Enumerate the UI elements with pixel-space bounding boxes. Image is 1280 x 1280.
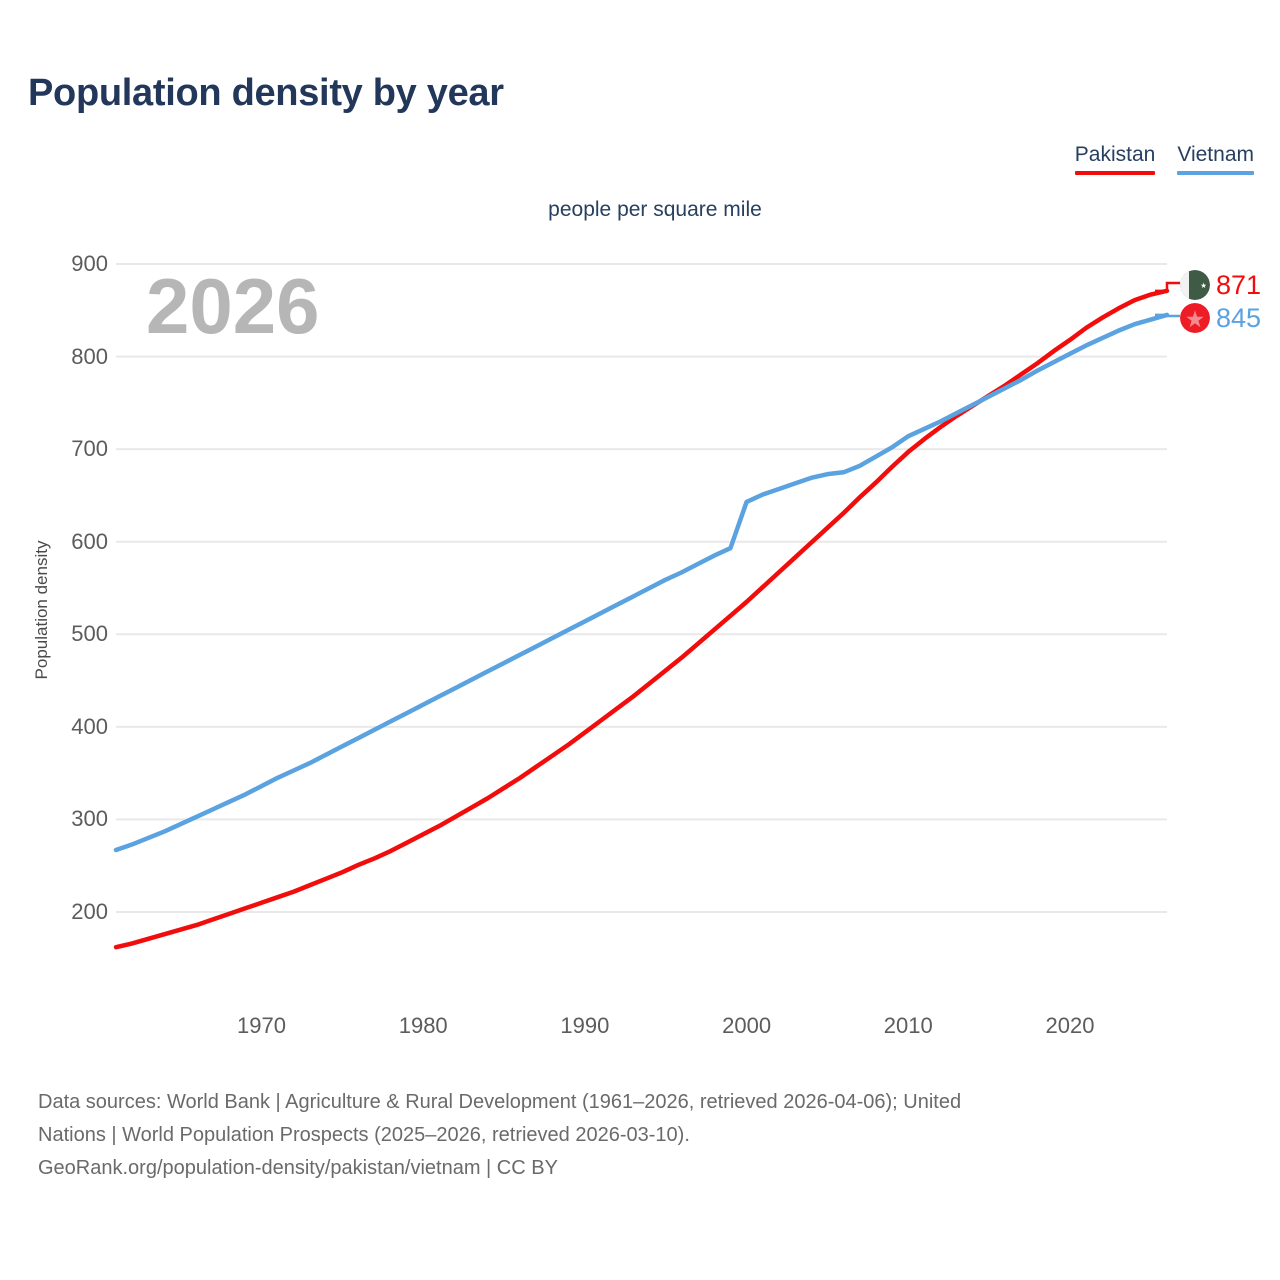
y-axis-tick-label: 500 bbox=[22, 621, 108, 647]
series-line-pakistan bbox=[116, 291, 1167, 947]
footer-line-2: Nations | World Population Prospects (20… bbox=[38, 1119, 1260, 1152]
footer-line-3: GeoRank.org/population-density/pakistan/… bbox=[38, 1152, 1260, 1185]
legend-item-pakistan[interactable]: Pakistan bbox=[1075, 143, 1156, 175]
endpoint-label-vietnam[interactable]: 845 bbox=[1180, 303, 1261, 333]
legend-rule-pakistan bbox=[1075, 171, 1156, 175]
series-line-vietnam bbox=[116, 315, 1167, 850]
legend-label-vietnam: Vietnam bbox=[1177, 143, 1254, 167]
y-axis-tick-label: 400 bbox=[22, 714, 108, 740]
chart-page: Population density by year Pakistan Viet… bbox=[0, 0, 1280, 1280]
endpoint-connector-vietnam bbox=[1155, 315, 1180, 316]
endpoint-value-vietnam: 845 bbox=[1216, 305, 1261, 332]
endpoint-value-pakistan: 871 bbox=[1216, 272, 1261, 299]
y-axis-tick-label: 800 bbox=[22, 344, 108, 370]
x-axis-tick-label: 1990 bbox=[560, 1013, 609, 1039]
y-axis-tick-label: 300 bbox=[22, 806, 108, 832]
endpoint-connector-pakistan bbox=[1155, 283, 1180, 291]
legend-label-pakistan: Pakistan bbox=[1075, 143, 1156, 167]
y-axis-tick-label: 900 bbox=[22, 251, 108, 277]
x-axis-tick-label: 1970 bbox=[237, 1013, 286, 1039]
chart-units-text: people per square mile bbox=[548, 198, 762, 221]
footer-sources: Data sources: World Bank | Agriculture &… bbox=[38, 1086, 1260, 1185]
x-axis-tick-label: 2020 bbox=[1046, 1013, 1095, 1039]
chart-units-label: people per square mile bbox=[0, 198, 1280, 222]
vietnam-flag-icon bbox=[1180, 303, 1210, 333]
x-axis-tick-label: 1980 bbox=[399, 1013, 448, 1039]
endpoint-label-pakistan[interactable]: 871 bbox=[1180, 270, 1261, 300]
footer-line-1: Data sources: World Bank | Agriculture &… bbox=[38, 1086, 1260, 1119]
legend-rule-vietnam bbox=[1177, 171, 1254, 175]
legend: Pakistan Vietnam bbox=[1075, 143, 1254, 175]
watermark-year: 2026 bbox=[146, 267, 320, 345]
pakistan-flag-icon bbox=[1180, 270, 1210, 300]
legend-item-vietnam[interactable]: Vietnam bbox=[1177, 143, 1254, 175]
x-axis-tick-label: 2000 bbox=[722, 1013, 771, 1039]
y-axis-tick-label: 600 bbox=[22, 529, 108, 555]
y-axis-tick-label: 700 bbox=[22, 436, 108, 462]
x-axis-tick-label: 2010 bbox=[884, 1013, 933, 1039]
y-axis-tick-label: 200 bbox=[22, 899, 108, 925]
